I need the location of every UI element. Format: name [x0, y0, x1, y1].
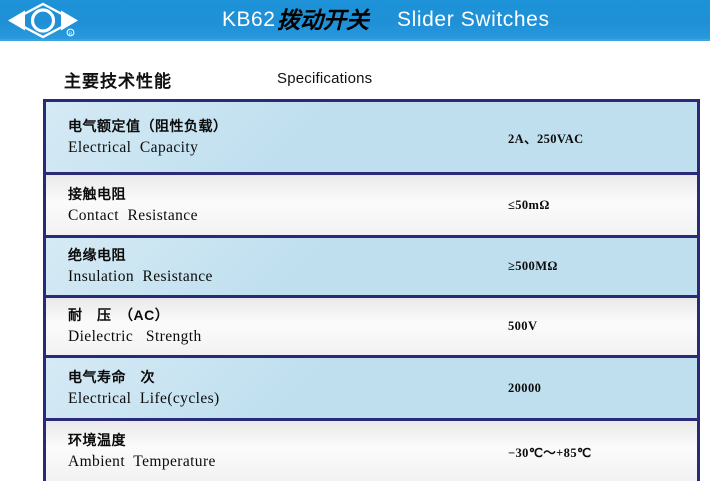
- spec-label-cell: 接触电阻 Contact Resistance: [46, 184, 486, 227]
- spec-label-chinese: 环境温度: [68, 430, 486, 450]
- spec-label-english: Ambient Temperature: [68, 451, 486, 473]
- table-row: 接触电阻 Contact Resistance ≤50mΩ: [46, 175, 697, 238]
- spec-label-cell: 环境温度 Ambient Temperature: [46, 430, 486, 473]
- section-title-english: Specifications: [277, 70, 372, 87]
- spec-label-chinese: 电气寿命 次: [68, 367, 486, 387]
- spec-label-cell: 电气额定值（阻性负载） Electrical Capacity: [46, 116, 486, 159]
- spec-label-english: Electrical Capacity: [68, 137, 486, 159]
- spec-value: ≤50mΩ: [508, 198, 550, 213]
- spec-value: 500V: [508, 319, 537, 334]
- spec-value: −30℃～+85℃: [508, 442, 591, 461]
- spec-label-cell: 耐 压 （AC） Dielectric Strength: [46, 305, 486, 348]
- spec-value: 20000: [508, 381, 541, 396]
- spec-label-chinese: 耐 压 （AC）: [68, 305, 486, 325]
- spec-label-english: Insulation Resistance: [68, 266, 486, 288]
- spec-label-chinese: 接触电阻: [68, 184, 486, 204]
- spec-label-cell: 电气寿命 次 Electrical Life(cycles): [46, 367, 486, 410]
- spec-label-english: Electrical Life(cycles): [68, 388, 486, 410]
- page-header-bar: R KB62 拨动开关 Slider Switches: [0, 0, 710, 41]
- spec-label-english: Dielectric Strength: [68, 326, 486, 348]
- spec-label-chinese: 绝缘电阻: [68, 245, 486, 265]
- spec-label-chinese: 电气额定值（阻性负载）: [68, 116, 486, 136]
- spec-label-english: Contact Resistance: [68, 205, 486, 227]
- header-title-english: Slider Switches: [397, 5, 550, 35]
- table-row: 环境温度 Ambient Temperature −30℃～+85℃: [46, 421, 697, 481]
- table-row: 绝缘电阻 Insulation Resistance ≥500MΩ: [46, 238, 697, 298]
- diamond-circle-logo-icon: R: [6, 1, 80, 40]
- spec-label-cell: 绝缘电阻 Insulation Resistance: [46, 245, 486, 288]
- svg-text:R: R: [69, 32, 73, 37]
- spec-value: 2A、250VAC: [508, 128, 584, 147]
- header-model-number: KB62: [222, 5, 275, 35]
- section-title-chinese: 主要技术性能: [64, 67, 172, 92]
- header-title-chinese: 拨动开关: [277, 5, 369, 35]
- spec-value: ≥500MΩ: [508, 259, 558, 274]
- table-row: 电气寿命 次 Electrical Life(cycles) 20000: [46, 358, 697, 421]
- table-row: 电气额定值（阻性负载） Electrical Capacity 2A、250VA…: [46, 102, 697, 175]
- specifications-table: 电气额定值（阻性负载） Electrical Capacity 2A、250VA…: [43, 99, 700, 481]
- table-row: 耐 压 （AC） Dielectric Strength 500V: [46, 298, 697, 358]
